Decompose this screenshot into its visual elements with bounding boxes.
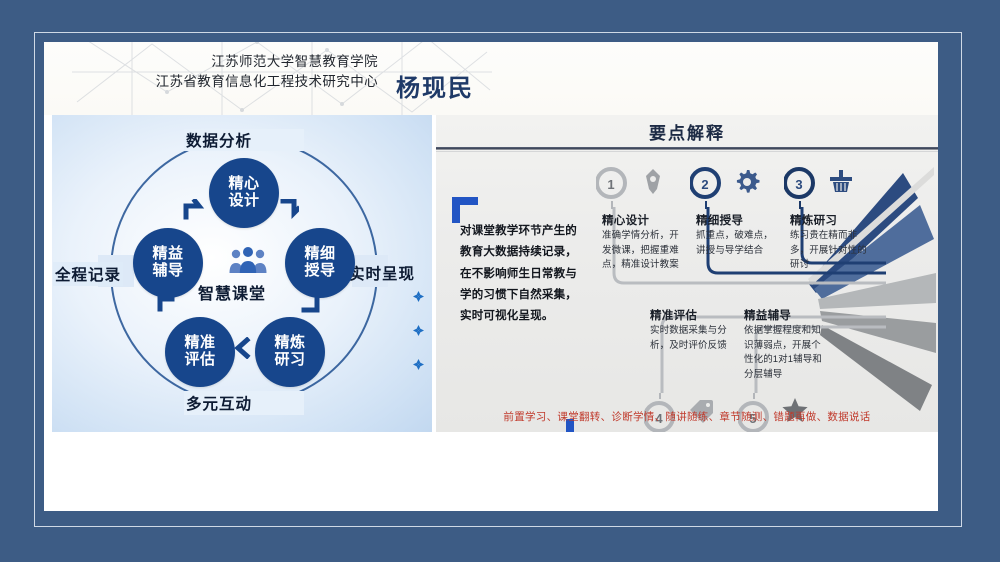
node-line-1: 精益 bbox=[152, 246, 183, 263]
content-panels: 数据分析 实时呈现 多元互动 全程记录 精心 设计 精细 授导 精炼 研习 精准… bbox=[44, 115, 938, 432]
chevron-arrow-icon bbox=[183, 199, 205, 221]
brush-icon bbox=[828, 169, 854, 195]
step-connector-lines bbox=[586, 155, 926, 432]
model-node-practice[interactable]: 精炼 研习 bbox=[255, 317, 325, 387]
step-pin-3 bbox=[784, 165, 822, 211]
key-points-panel: 要点解释 对课堂教学环节产生的教育大数据持续记录，在不影响师生日常教与学的习惯下… bbox=[436, 115, 938, 432]
node-line-1: 精准 bbox=[184, 335, 215, 352]
ring-label-top: 数据分析 bbox=[186, 129, 252, 151]
title-divider bbox=[436, 147, 938, 150]
node-line-2: 设计 bbox=[228, 193, 259, 210]
node-line-2: 研习 bbox=[274, 352, 305, 369]
step-title-4: 精准评估 bbox=[650, 307, 697, 323]
chevron-arrow-icon bbox=[277, 199, 299, 221]
quote-text: 对课堂教学环节产生的教育大数据持续记录，在不影响师生日常教与学的习惯下自然采集，… bbox=[460, 221, 584, 327]
steps-container: 1 精心设计 准确学情分析，开发微课，把握重难点，精准设计教案 bbox=[586, 155, 926, 432]
model-node-tutoring[interactable]: 精益 辅导 bbox=[133, 228, 203, 298]
footer-note: 前置学习、课堂翻转、诊断学情、随讲随练、章节随测、错题再做、数据说话 bbox=[440, 409, 934, 424]
step-pin-1 bbox=[596, 165, 634, 211]
slide-canvas: 江苏师范大学智慧教育学院 江苏省教育信息化工程技术研究中心 杨现民 数据分析 实… bbox=[44, 42, 938, 511]
slide-blank-area bbox=[44, 432, 938, 511]
node-line-2: 授导 bbox=[304, 263, 335, 280]
chevron-arrow-icon bbox=[299, 296, 321, 318]
presenter-name: 杨现民 bbox=[396, 68, 474, 103]
chevron-arrow-icon bbox=[232, 337, 254, 359]
org-line-1: 江苏师范大学智慧教育学院 bbox=[78, 52, 378, 72]
model-node-assessment[interactable]: 精准 评估 bbox=[165, 317, 235, 387]
key-points-title: 要点解释 bbox=[436, 119, 938, 144]
node-line-1: 精炼 bbox=[274, 335, 305, 352]
circle-model-panel: 数据分析 实时呈现 多元互动 全程记录 精心 设计 精细 授导 精炼 研习 精准… bbox=[52, 115, 432, 432]
bullet-markers bbox=[413, 291, 424, 370]
step-title-1: 精心设计 bbox=[602, 212, 649, 228]
node-line-2: 辅导 bbox=[152, 263, 183, 280]
step-desc-1: 准确学情分析，开发微课，把握重难点，精准设计教案 bbox=[602, 229, 682, 273]
title-divider-secondary bbox=[436, 151, 938, 152]
node-line-2: 评估 bbox=[184, 352, 215, 369]
node-line-1: 精心 bbox=[228, 176, 259, 193]
step-title-5: 精益辅导 bbox=[744, 307, 791, 323]
model-center-label: 智慧课堂 bbox=[198, 280, 266, 304]
chevron-arrow-icon bbox=[157, 295, 179, 317]
slide-header: 江苏师范大学智慧教育学院 江苏省教育信息化工程技术研究中心 杨现民 bbox=[44, 42, 938, 115]
ring-label-left: 全程记录 bbox=[53, 262, 123, 286]
people-group-icon bbox=[228, 245, 268, 275]
header-organization: 江苏师范大学智慧教育学院 江苏省教育信息化工程技术研究中心 bbox=[78, 52, 378, 91]
model-node-teaching[interactable]: 精细 授导 bbox=[285, 228, 355, 298]
step-desc-4: 实时数据采集与分析，及时评价反馈 bbox=[650, 324, 730, 353]
pen-nib-icon bbox=[640, 169, 666, 195]
node-line-1: 精细 bbox=[304, 246, 335, 263]
diamond-bullet-icon bbox=[413, 291, 424, 302]
step-title-2: 精细授导 bbox=[696, 212, 743, 228]
step-desc-5: 依据掌握程度和知识薄弱点，开展个性化的1对1辅导和分层辅导 bbox=[744, 324, 824, 383]
gear-icon bbox=[734, 169, 760, 195]
step-desc-2: 抓重点，破难点，讲授与导学结合 bbox=[696, 229, 776, 258]
diamond-bullet-icon bbox=[413, 325, 424, 336]
ring-label-right: 实时呈现 bbox=[349, 262, 415, 284]
corner-bracket-icon bbox=[452, 197, 478, 223]
step-desc-3: 练习贵在精而非多，开展针对性的研讨 bbox=[790, 229, 870, 273]
ring-label-bottom: 多元互动 bbox=[186, 392, 252, 414]
org-line-2: 江苏省教育信息化工程技术研究中心 bbox=[78, 72, 378, 92]
step-pin-2 bbox=[690, 165, 728, 211]
model-node-design[interactable]: 精心 设计 bbox=[209, 158, 279, 228]
diamond-bullet-icon bbox=[413, 359, 424, 370]
step-title-3: 精炼研习 bbox=[790, 212, 837, 228]
